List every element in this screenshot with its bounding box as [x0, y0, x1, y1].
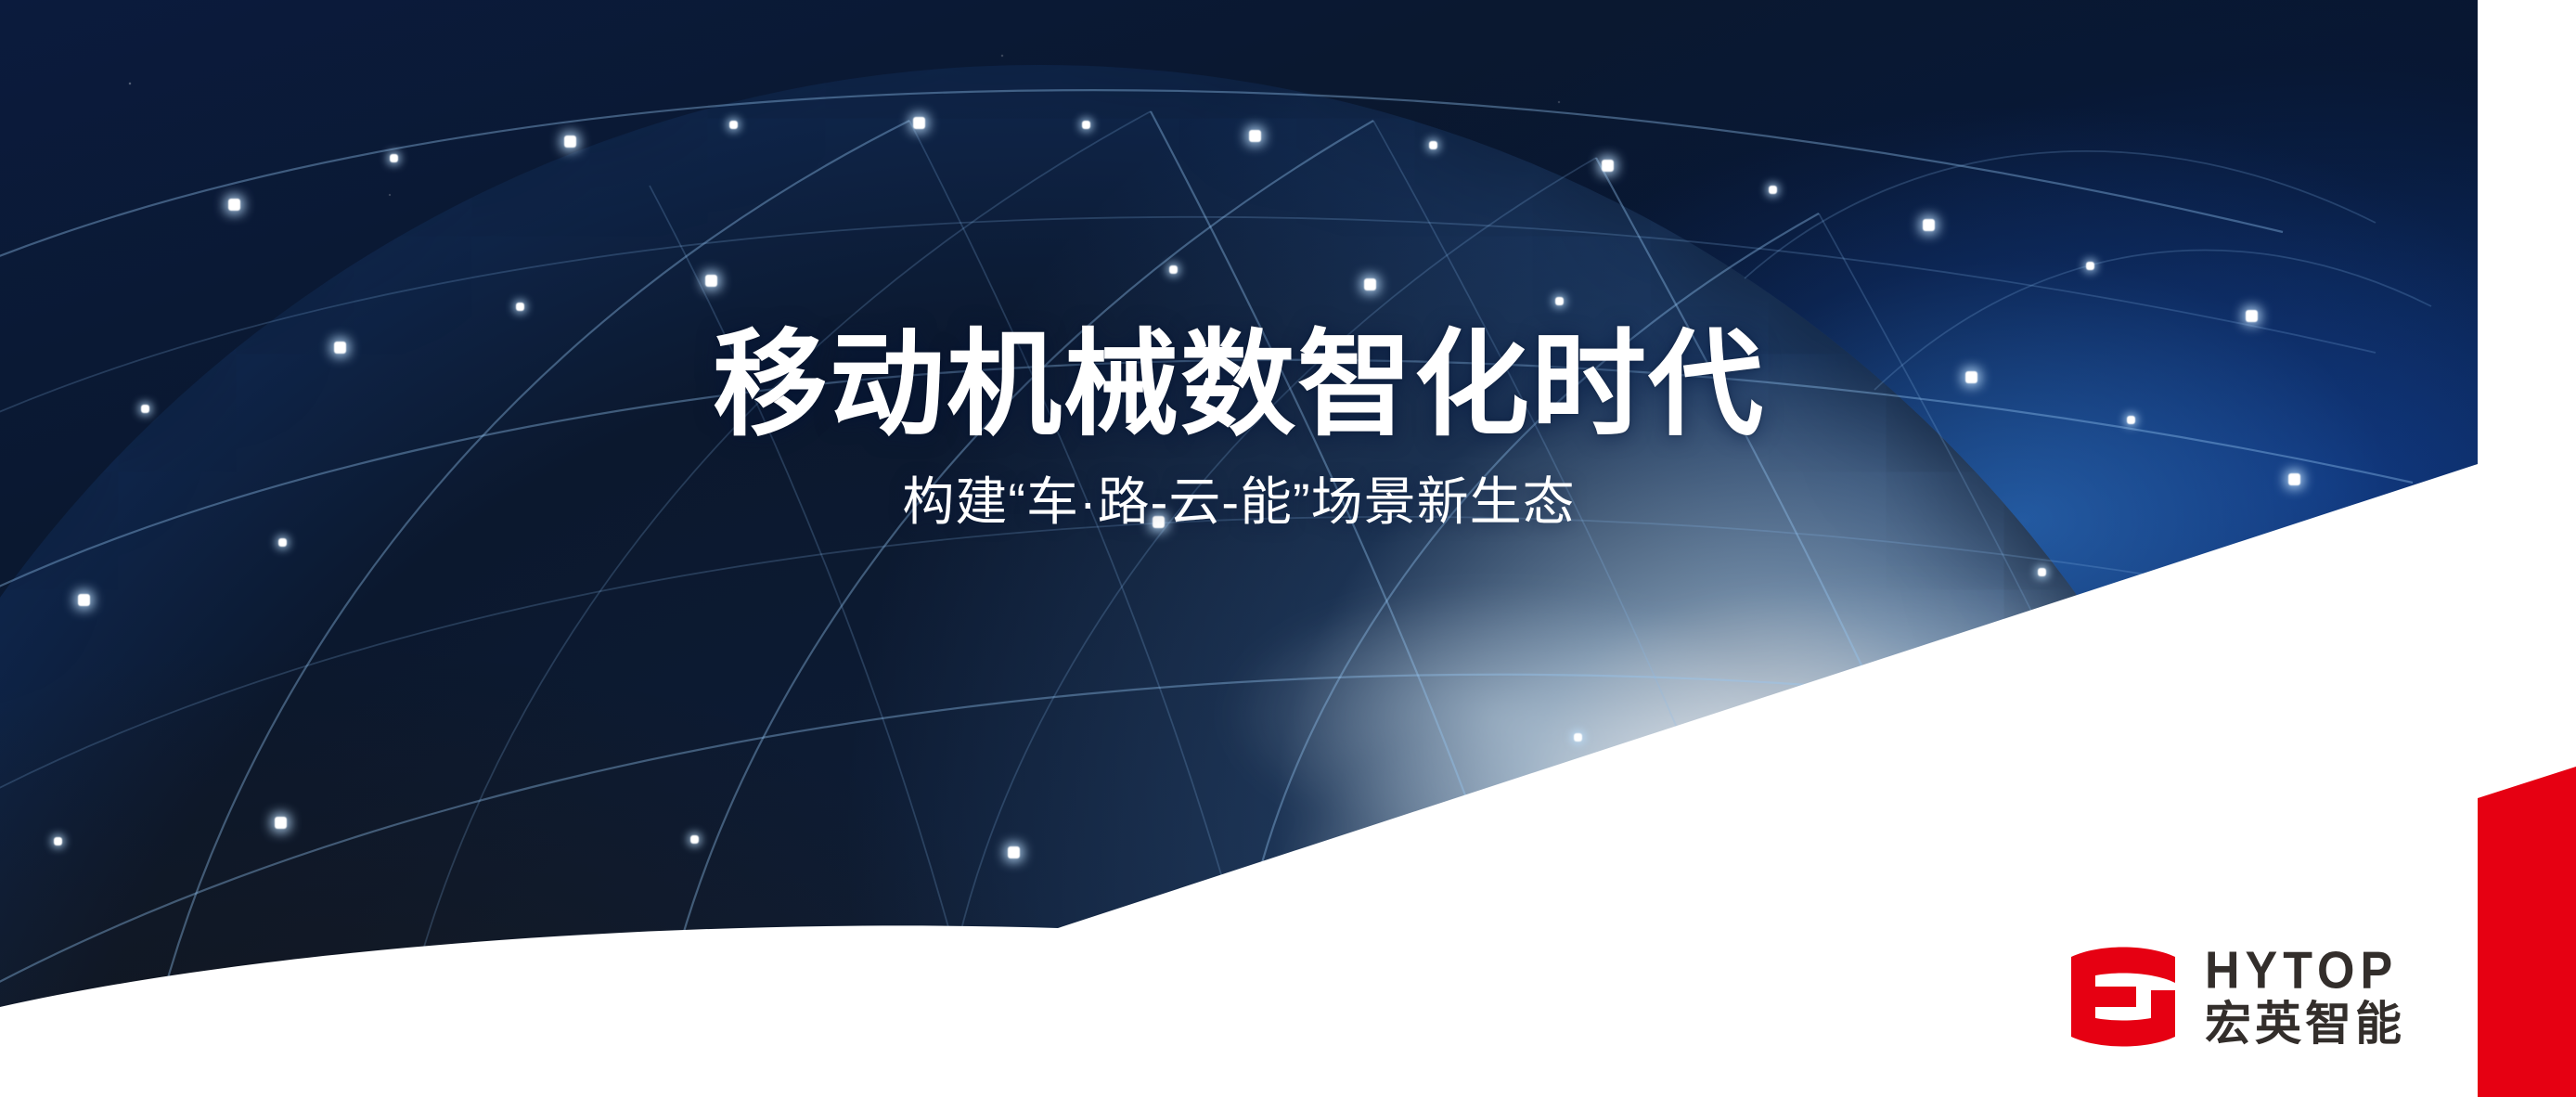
network-mesh-overlay — [0, 0, 2478, 1097]
atmosphere-halo — [0, 0, 2431, 1097]
globe-night-side — [0, 65, 2320, 1097]
atmosphere-limb — [0, 65, 2320, 1097]
red-accent-block — [2478, 0, 2576, 1097]
logo-latin-name: HYTOP — [2205, 945, 2405, 997]
headline-block: 移动机械数智化时代 构建“车·路-云-能”场景新生态 — [0, 327, 2478, 531]
globe-sphere — [0, 65, 2320, 1097]
logo-chinese-name: 宏英智能 — [2205, 1000, 2405, 1047]
earth-globe — [0, 65, 2320, 1097]
page-subtitle: 构建“车·路-云-能”场景新生态 — [0, 473, 2478, 531]
space-background — [0, 0, 2478, 1097]
hytop-g-mark-icon — [2067, 946, 2179, 1048]
globe-cloud-sheen — [0, 65, 2320, 1097]
page-title: 移动机械数智化时代 — [0, 327, 2478, 444]
brand-logo: HYTOP 宏英智能 — [2067, 936, 2457, 1058]
logo-wordmark: HYTOP 宏英智能 — [2205, 947, 2405, 1047]
cover-slide: 移动机械数智化时代 构建“车·路-云-能”场景新生态 HYTOP 宏英智能 — [0, 0, 2576, 1097]
starfield — [0, 0, 2478, 1097]
city-lights-layer — [0, 65, 2320, 1097]
